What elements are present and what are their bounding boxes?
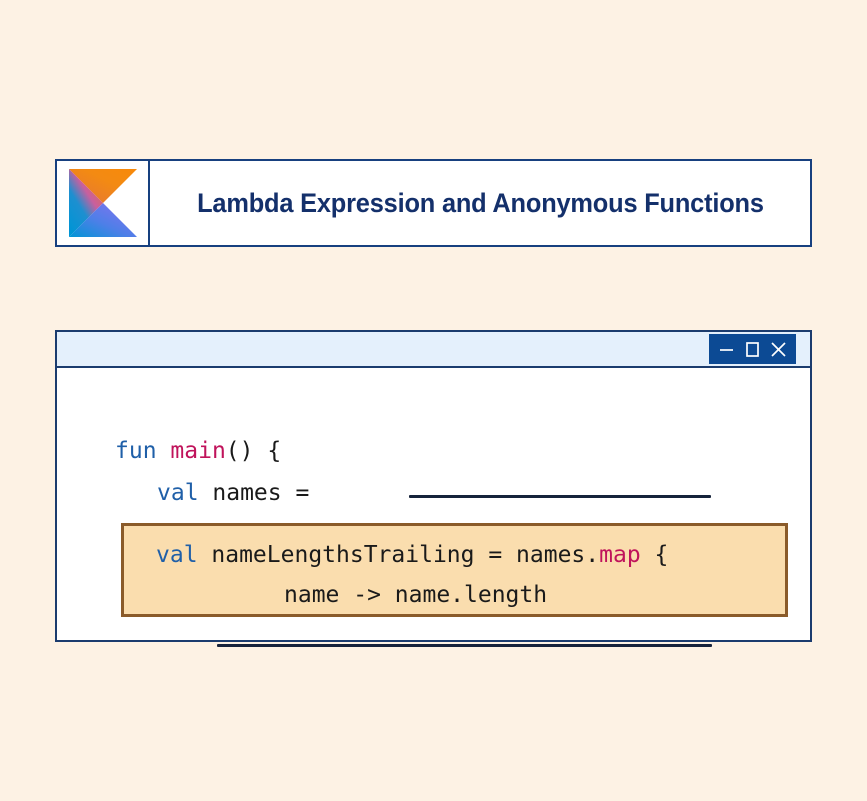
header-title-cell: Lambda Expression and Anonymous Function…	[150, 161, 810, 245]
window-titlebar[interactable]	[57, 332, 810, 368]
kotlin-logo-icon	[69, 169, 137, 237]
code-line1-rest: () {	[226, 438, 281, 464]
close-icon[interactable]	[769, 338, 788, 360]
keyword-fun: fun	[115, 438, 157, 464]
highlight-line1-middle: nameLengthsTrailing = names.	[198, 542, 600, 568]
code-line2-rest: names =	[199, 480, 324, 506]
window-controls	[709, 334, 796, 364]
code-body: fun main() { val names = val nameLengths…	[57, 368, 810, 640]
maximize-icon[interactable]	[743, 338, 762, 360]
header-banner: Lambda Expression and Anonymous Function…	[55, 159, 812, 247]
redaction-line-2	[217, 644, 712, 647]
highlighted-code-block: val nameLengthsTrailing = names.map { na…	[121, 523, 788, 617]
code-line-fun-main: fun main() {	[115, 440, 281, 463]
redaction-line-1	[409, 495, 711, 498]
page-title: Lambda Expression and Anonymous Function…	[197, 188, 764, 219]
code-line-val-names: val names =	[157, 482, 323, 505]
keyword-val: val	[157, 480, 199, 506]
logo-cell	[57, 161, 150, 245]
minimize-icon[interactable]	[717, 338, 736, 360]
highlight-line1-tail: {	[641, 542, 669, 568]
method-name-map: map	[599, 542, 641, 568]
highlight-line-1: val nameLengthsTrailing = names.map {	[156, 544, 668, 567]
code-window: fun main() { val names = val nameLengths…	[55, 330, 812, 642]
function-name-main: main	[170, 438, 225, 464]
space-1	[157, 438, 171, 464]
keyword-val-highlight: val	[156, 542, 198, 568]
highlight-line-2: name -> name.length	[284, 584, 547, 607]
